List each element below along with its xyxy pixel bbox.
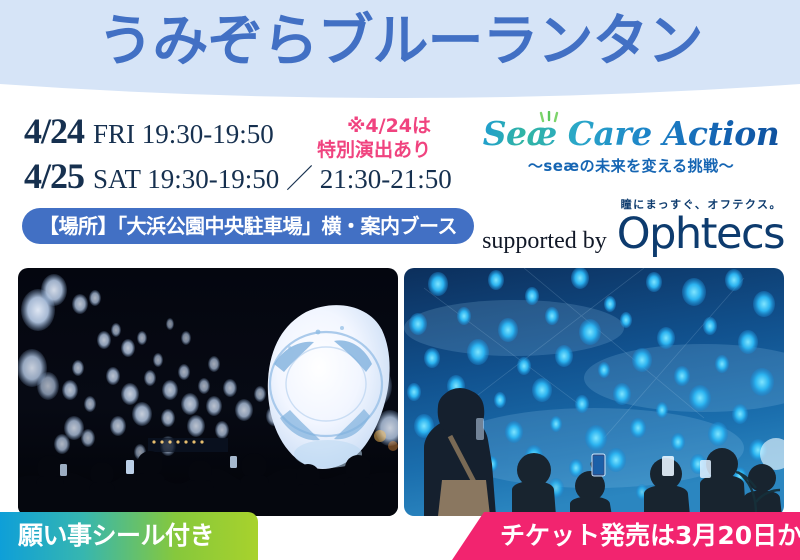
schedule-date: 4/24	[24, 110, 84, 152]
ophtecs-wordmark: Ophtecs	[617, 212, 784, 256]
banner-wish-sticker-label: 願い事シール付き	[18, 512, 214, 560]
schedule-time: SAT 19:30-19:50 ／ 21:30-21:50	[93, 157, 452, 196]
photo-blue-lanterns	[404, 268, 784, 516]
banner-wish-sticker: 願い事シール付き	[0, 512, 258, 560]
page-title: うみぞらブルーランタン	[0, 6, 800, 78]
ophtecs-logo-row: supported by Ophtecs	[482, 212, 784, 256]
photo-blue-lanterns-art	[404, 268, 784, 516]
schedule-date: 4/25	[24, 155, 84, 197]
banner-ticket-sale-label: チケット発売は3月20日から	[500, 512, 800, 560]
sea-care-action-tagline: 〜seæの未来を変える挑戦〜	[478, 155, 784, 176]
supported-by-label: supported by	[482, 228, 607, 255]
venue-badge: 【場所】「大浜公園中央駐車場」横・案内ブース	[22, 208, 474, 244]
sea-care-action-wordmark: Seæ Care Action	[478, 116, 784, 152]
poster-root: うみぞらブルーランタン 4/24 FRI 19:30-19:50 4/25 SA…	[0, 0, 800, 560]
schedule-time: FRI 19:30-19:50	[93, 119, 274, 150]
sparkle-icon	[539, 111, 563, 123]
special-performance-note-line1: ※4/24は	[347, 115, 431, 137]
sea-care-action-logo: Seæ Care Action 〜seæの未来を変える挑戦〜	[478, 116, 784, 176]
photo-white-lanterns-art	[18, 268, 398, 516]
photo-white-lanterns	[18, 268, 398, 516]
banner-ticket-sale: チケット発売は3月20日から	[452, 512, 800, 560]
special-performance-note-line2: 特別演出あり	[317, 138, 431, 162]
special-performance-note: ※4/24は 特別演出あり	[317, 114, 431, 162]
